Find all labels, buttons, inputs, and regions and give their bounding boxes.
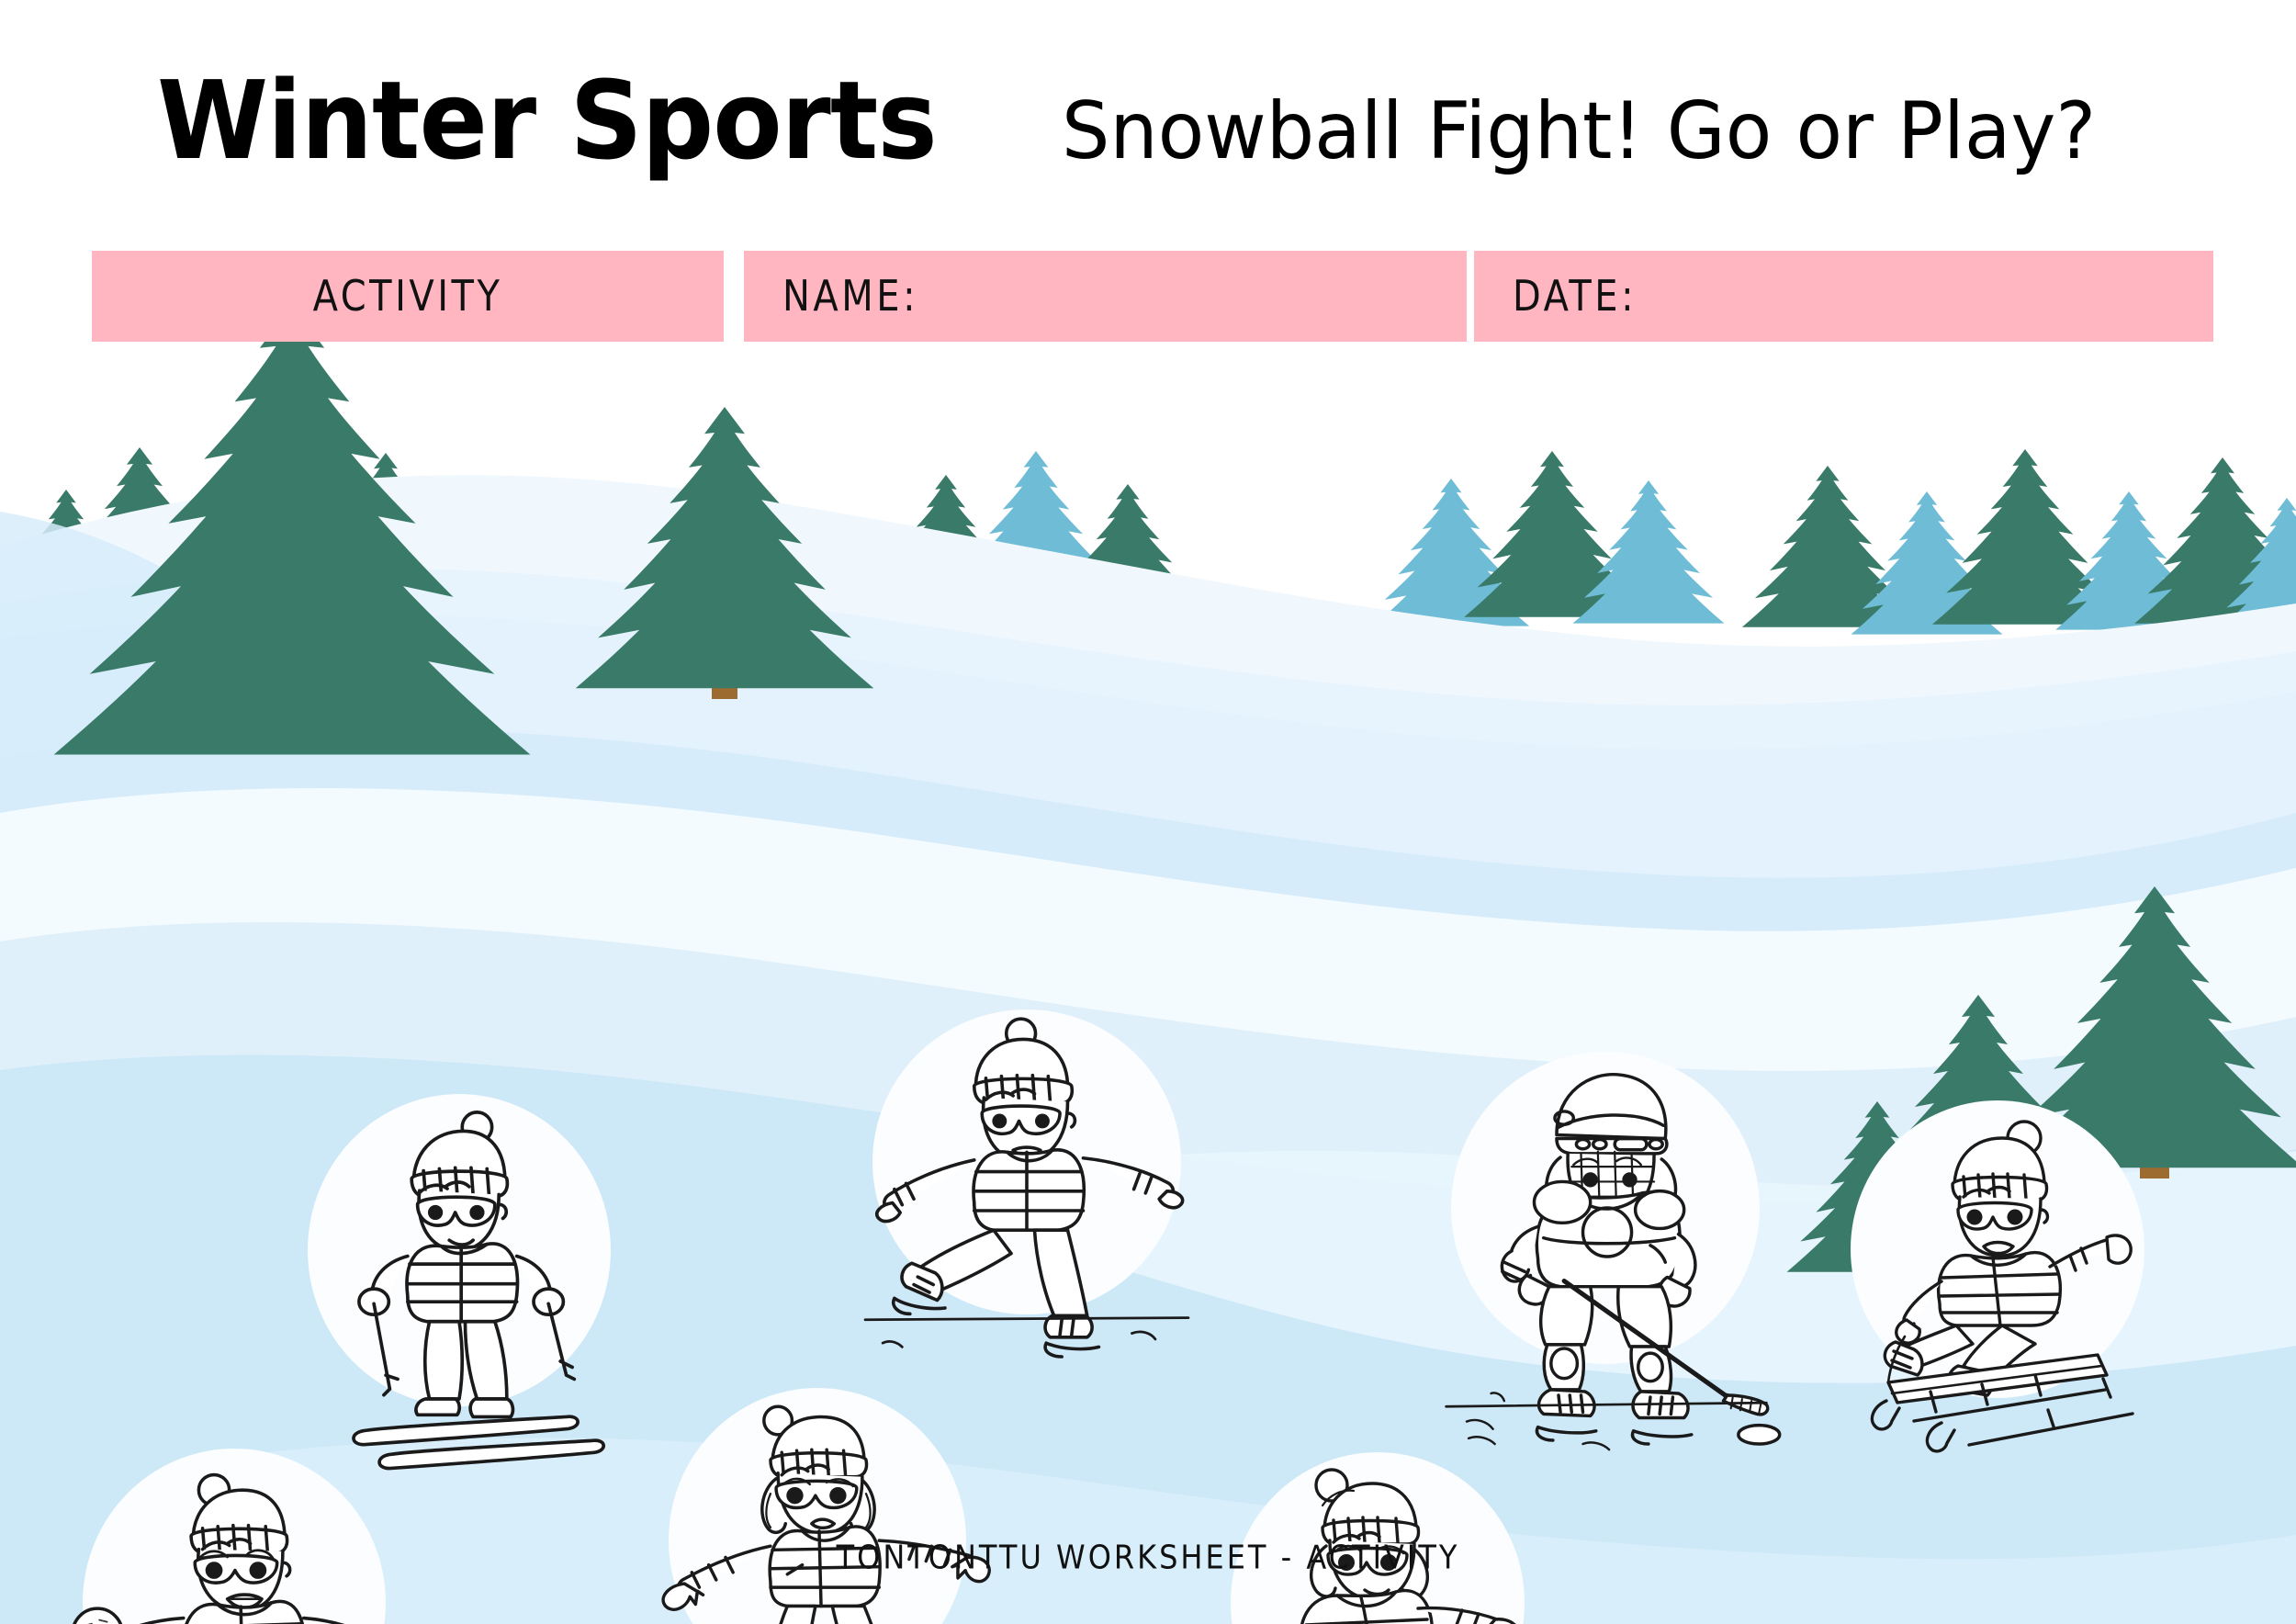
worksheet-page: Winter Sports Snowball Fight! Go or Play… (0, 0, 2296, 1624)
title-row: Winter Sports Snowball Fight! Go or Play… (0, 66, 2296, 175)
footer-text: TONTONTTU WORKSHEET - ACTIVITY (837, 1538, 1460, 1577)
name-field[interactable]: NAME: (744, 251, 1467, 342)
activity-field[interactable]: ACTIVITY (92, 251, 724, 342)
page-subtitle: Snowball Fight! Go or Play? (1062, 92, 2096, 171)
date-field[interactable]: DATE: (1474, 251, 2213, 342)
page-title: Winter Sports (157, 66, 937, 175)
footer: TONTONTTU WORKSHEET - ACTIVITY (0, 1539, 2296, 1574)
worksheet-header: Winter Sports Snowball Fight! Go or Play… (0, 0, 2296, 243)
name-label: NAME: (782, 272, 918, 321)
winter-scene (0, 243, 2296, 1624)
date-label: DATE: (1513, 272, 1637, 321)
activity-label: ACTIVITY (313, 272, 503, 321)
